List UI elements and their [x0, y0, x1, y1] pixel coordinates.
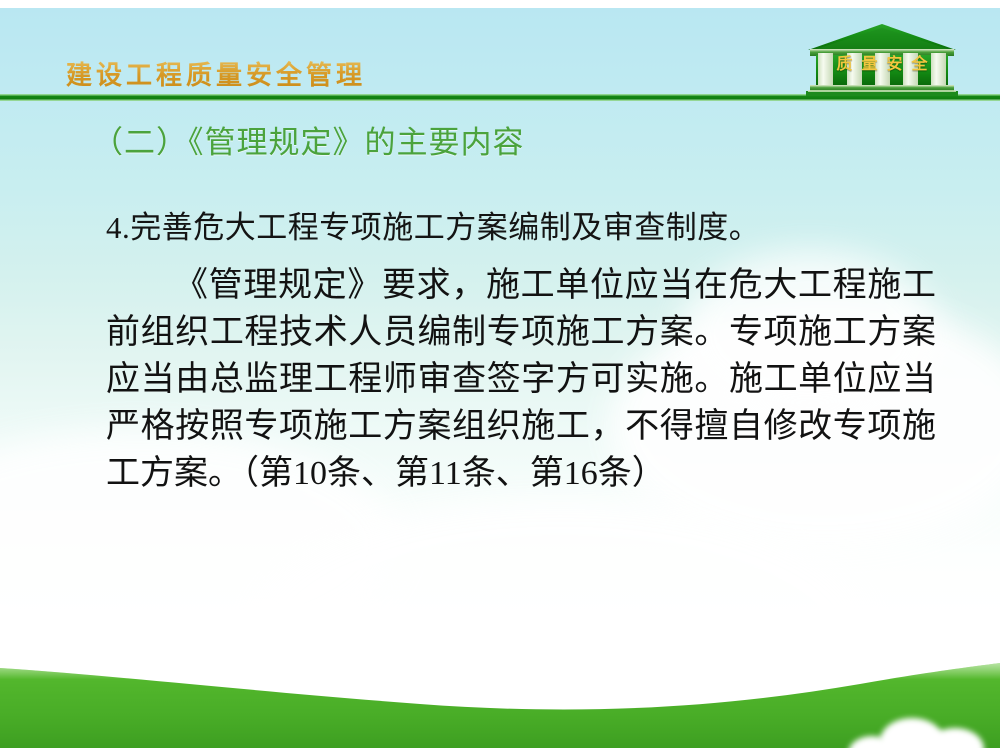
slide-body: 4.完善危大工程专项施工方案编制及审查制度。 《管理规定》要求，施工单位应当在危…	[106, 204, 936, 497]
body-paragraph: 《管理规定》要求，施工单位应当在危大工程施工前组织工程技术人员编制专项施工方案。…	[106, 262, 936, 497]
grass-field	[0, 630, 1000, 750]
page-title: （二）《管理规定》的主要内容	[92, 123, 525, 163]
slide-top-margin	[0, 0, 1000, 8]
body-item-4: 4.完善危大工程专项施工方案编制及审查制度。	[106, 204, 936, 252]
slide: 建设工程质量安全管理	[0, 0, 1000, 750]
header-title: 建设工程质量安全管理	[66, 60, 366, 92]
logo-caption: 质量安全	[806, 50, 958, 74]
quality-safety-temple-logo: 质量安全	[806, 22, 958, 98]
grass-shape	[0, 630, 1000, 750]
